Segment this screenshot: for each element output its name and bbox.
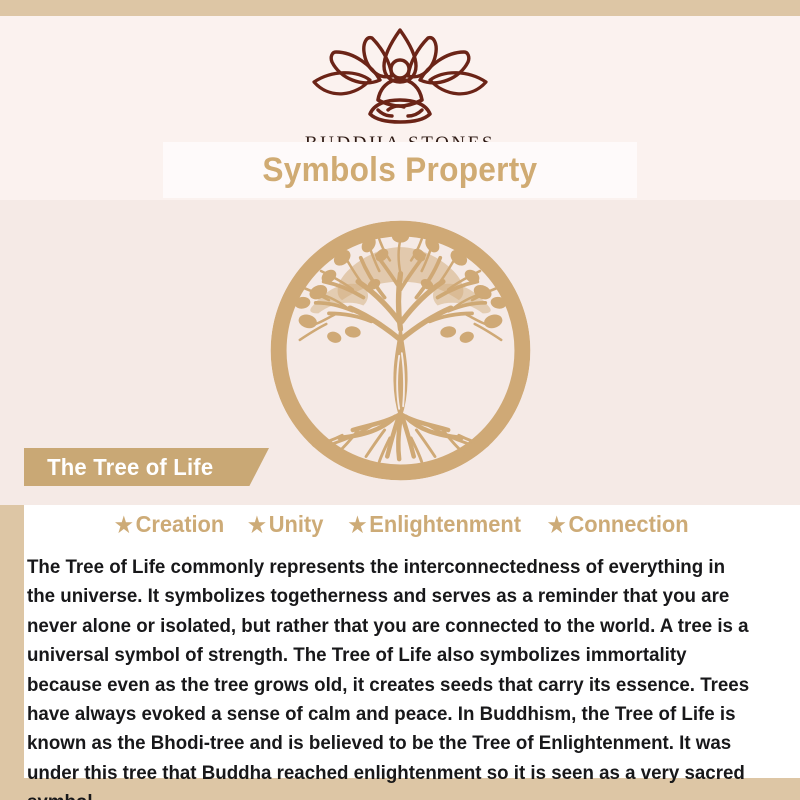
content-panel: ★Creation ★Unity ★Enlightenment ★Connect… bbox=[24, 505, 800, 778]
star-icon: ★ bbox=[248, 514, 266, 537]
infographic-page: BUDDHA STONES Symbols Property bbox=[0, 0, 800, 800]
keyword-label: Enlightenment bbox=[369, 511, 521, 537]
keyword-label: Creation bbox=[136, 511, 225, 537]
keyword-item: ★Unity bbox=[248, 511, 323, 538]
section-label-banner: The Tree of Life bbox=[24, 448, 269, 486]
page-title-band: Symbols Property bbox=[163, 142, 637, 198]
keyword-item: ★Enlightenment bbox=[348, 511, 520, 538]
keyword-label: Connection bbox=[568, 511, 688, 537]
section-label: The Tree of Life bbox=[28, 454, 213, 481]
keyword-list: ★Creation ★Unity ★Enlightenment ★Connect… bbox=[24, 511, 780, 538]
decor-top-band bbox=[0, 0, 800, 16]
keyword-item: ★Creation bbox=[115, 511, 224, 538]
lotus-meditation-logo-icon bbox=[300, 22, 500, 131]
keyword-label: Unity bbox=[268, 511, 323, 537]
page-title: Symbols Property bbox=[262, 151, 537, 190]
star-icon: ★ bbox=[547, 514, 565, 537]
star-icon: ★ bbox=[115, 514, 133, 537]
description-paragraph: The Tree of Life commonly represents the… bbox=[27, 553, 753, 800]
keyword-item: ★Connection bbox=[547, 511, 688, 538]
tree-of-life-icon bbox=[268, 218, 533, 483]
brand-logo: BUDDHA STONES bbox=[0, 22, 800, 155]
star-icon: ★ bbox=[348, 514, 366, 537]
